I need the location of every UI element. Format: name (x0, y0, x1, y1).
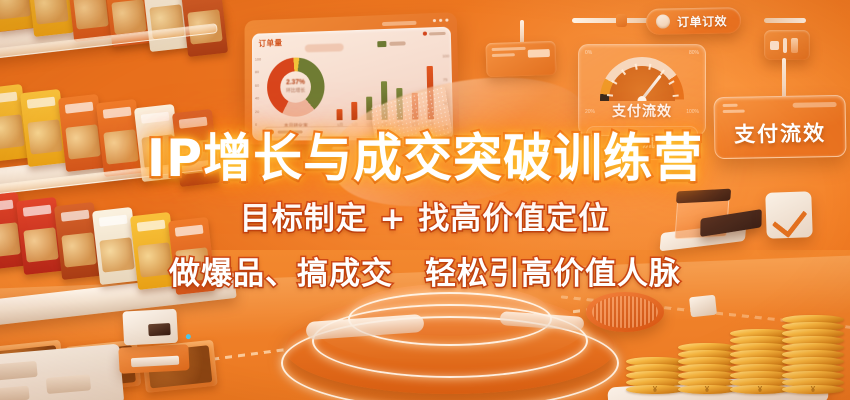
promo-banner: 订单量 100 80 60 40 20 0 2.37% 环比增长 本月转化率 1… (0, 0, 850, 400)
coin-stack (730, 331, 790, 394)
gauge-label: 支付流效 (579, 101, 705, 121)
coin (782, 385, 844, 394)
bar-group: 1月 (334, 54, 346, 128)
right-tick: 100 (442, 53, 449, 58)
pos-screen (122, 309, 178, 346)
bar (352, 102, 358, 120)
donut-center-value: 2.37% (267, 79, 324, 87)
y-tick: 100 (255, 57, 261, 62)
mini-info-card (485, 41, 556, 77)
page-title: IP增长与成交突破训练营 (0, 133, 850, 185)
pos-base (118, 344, 189, 374)
coin (678, 385, 736, 394)
toggle-bar-icon (783, 38, 787, 53)
status-bar-pill (382, 21, 417, 26)
connector-rail (764, 18, 806, 23)
panel-slot (0, 361, 38, 381)
rail-node (616, 14, 627, 27)
card-line (492, 47, 526, 51)
card-line (723, 104, 738, 107)
headline-block: IP增长与成交突破训练营 目标制定 + 找高价值定位 做爆品、搞成交 轻松引高价… (0, 134, 850, 293)
panel-slot (0, 386, 30, 400)
pos-terminal (116, 308, 189, 374)
bar (337, 109, 343, 120)
panel-slot (46, 374, 91, 394)
subtitle-line-2: 做爆品、搞成交 轻松引高价值人脉 (0, 248, 850, 293)
center-podium (282, 288, 618, 400)
y-tick: 80 (255, 70, 261, 75)
chart-y-axis: 100 80 60 40 20 0 (255, 57, 261, 127)
card-line (492, 53, 515, 57)
right-tick: 75 (443, 77, 450, 82)
coin-stack (626, 359, 684, 394)
badge-label: 订单订效 (677, 12, 727, 30)
card-meta (723, 104, 745, 116)
chart-legend-primary (377, 40, 405, 47)
card-block (528, 49, 550, 58)
y-tick: 60 (255, 83, 261, 88)
coin (730, 385, 790, 394)
card-line (723, 110, 745, 113)
y-tick: 40 (255, 96, 261, 101)
white-display-panel (0, 344, 124, 400)
status-bar-dots (433, 19, 449, 23)
y-tick: 20 (255, 109, 261, 114)
dashboard-title: 订单量 (258, 32, 443, 49)
coin-stacks (620, 286, 850, 400)
gauge-corner-label: 80% (689, 50, 699, 56)
coin-stack (678, 345, 736, 394)
chart-legend-secondary (423, 31, 446, 36)
badge-knob-icon (656, 14, 670, 28)
gauge-corner-label: 0% (585, 50, 592, 56)
coin (626, 385, 684, 394)
order-efficiency-badge[interactable]: 订单订效 (646, 7, 741, 35)
connector-stem (520, 20, 524, 44)
donut-center-sub: 环比增长 (267, 86, 325, 94)
dashboard-filter-chip[interactable] (305, 43, 344, 52)
y-tick: 0 (255, 122, 261, 127)
toggle-control-block[interactable] (764, 30, 810, 60)
payment-flow-gauge-card: 0% 80% 20% 100% 支付流效 (578, 44, 706, 136)
subtitle-line-1: 目标制定 + 找高价值定位 (0, 193, 850, 238)
snack-pack (26, 0, 74, 37)
coin-stack (782, 317, 844, 394)
card-meta-right (793, 102, 837, 108)
toggle-square-icon (770, 41, 779, 50)
gauge-dial (600, 57, 684, 101)
toggle-slider-icon (791, 38, 798, 53)
